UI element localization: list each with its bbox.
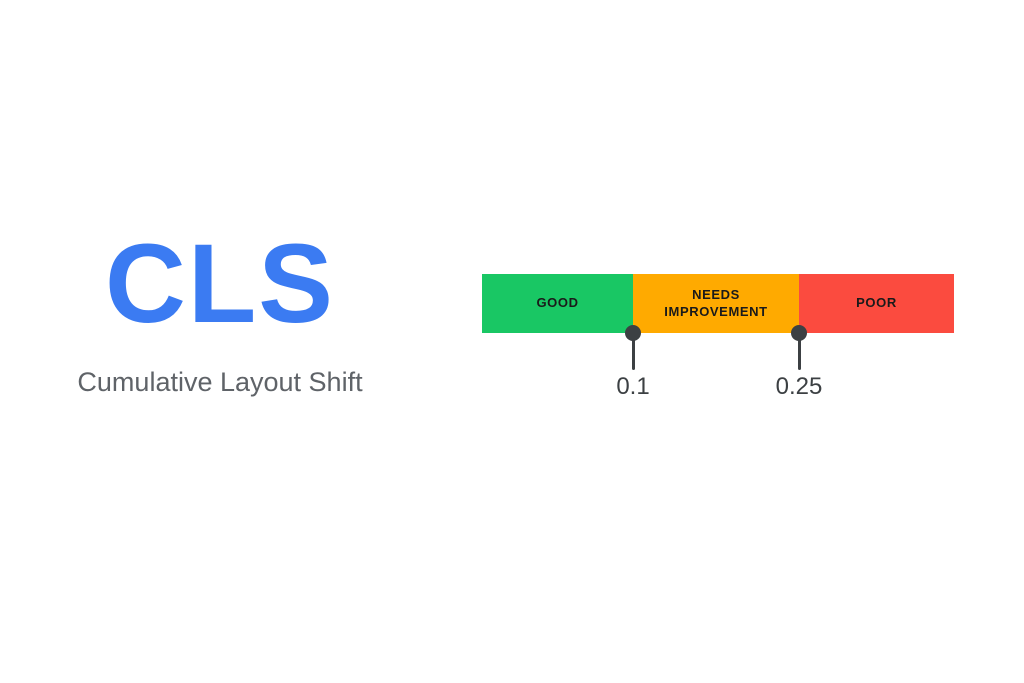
infographic-canvas: CLS Cumulative Layout Shift GOOD NEEDS I… (0, 0, 1024, 683)
scale-band-poor: POOR (799, 274, 954, 333)
scale-band-good: GOOD (482, 274, 633, 333)
threshold-value-0-1: 0.1 (573, 375, 693, 399)
threshold-value-0-25: 0.25 (739, 375, 859, 399)
metric-full-name: Cumulative Layout Shift (40, 366, 400, 398)
scale-band-poor-label: POOR (856, 295, 897, 311)
threshold-scale: GOOD NEEDS IMPROVEMENT POOR 0.1 0.25 (482, 274, 954, 333)
scale-band-needs-improvement: NEEDS IMPROVEMENT (633, 274, 799, 333)
metric-abbreviation: CLS (40, 228, 400, 340)
threshold-marker-dot-icon (791, 325, 807, 341)
scale-band-good-label: GOOD (536, 295, 578, 311)
threshold-marker-dot-icon (625, 325, 641, 341)
scale-bar: GOOD NEEDS IMPROVEMENT POOR (482, 274, 954, 333)
metric-identity: CLS Cumulative Layout Shift (40, 228, 400, 398)
scale-band-needs-improvement-label: NEEDS IMPROVEMENT (664, 287, 767, 320)
